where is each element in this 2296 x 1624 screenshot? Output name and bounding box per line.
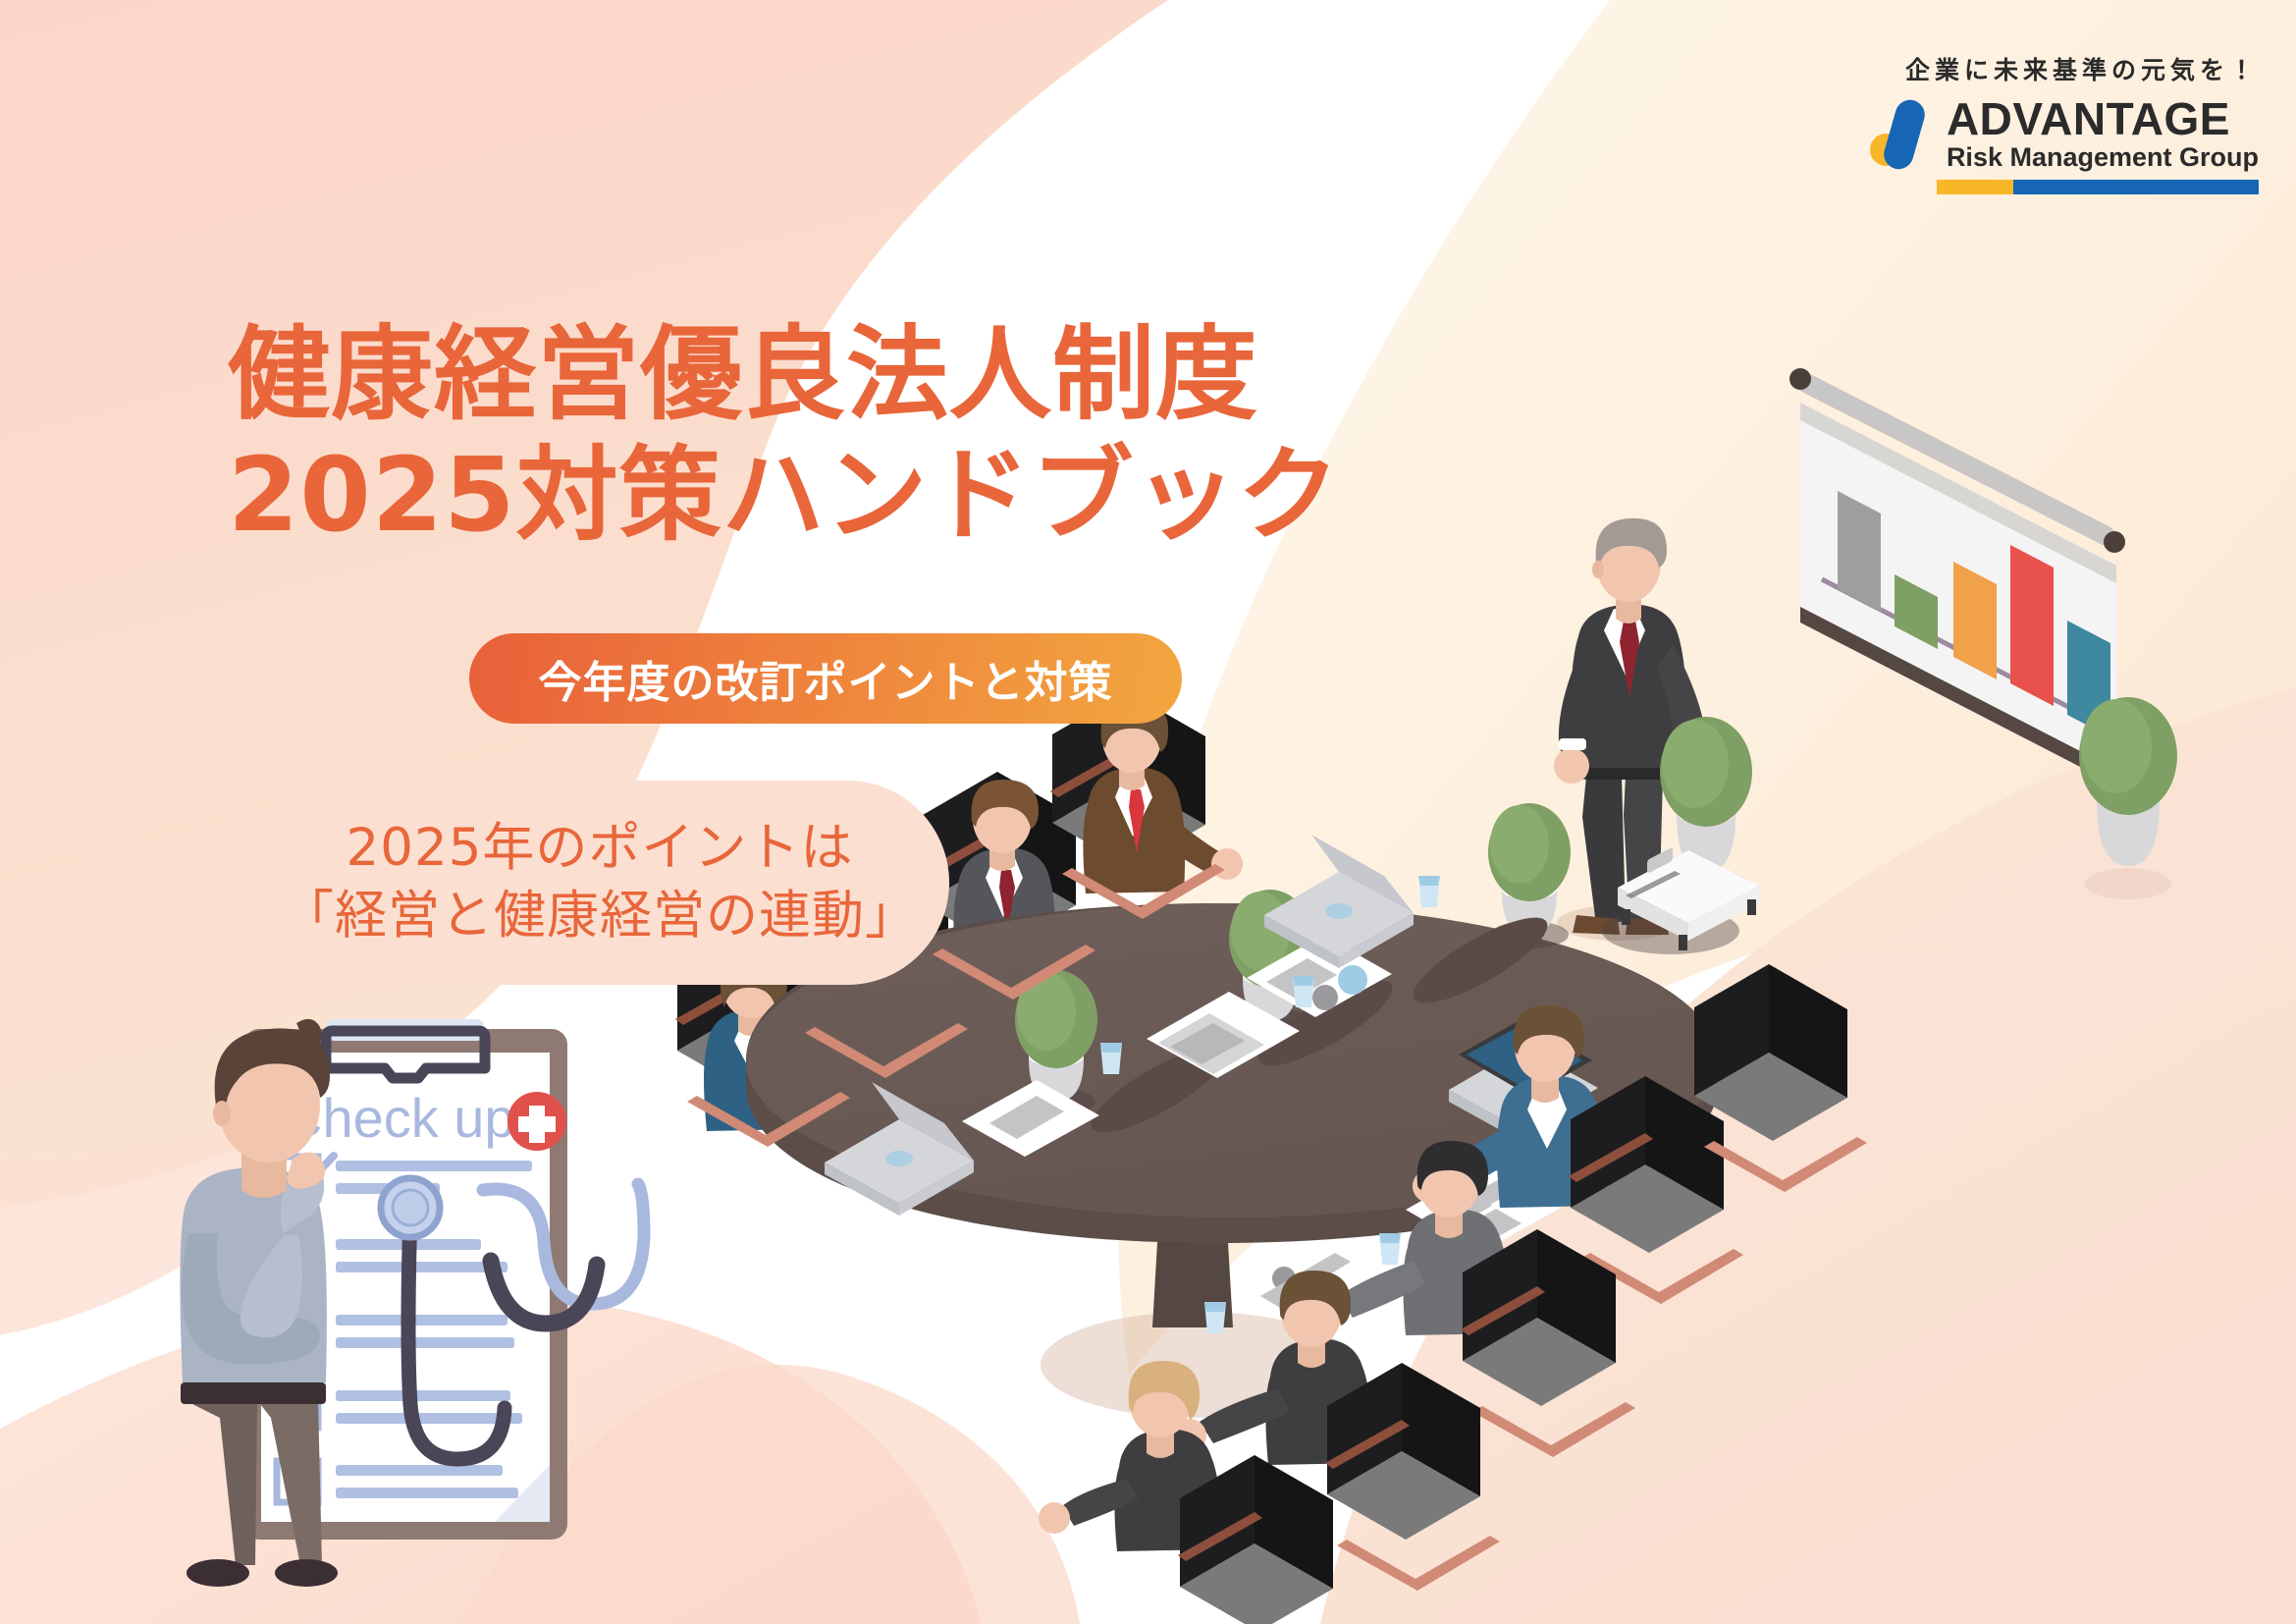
medical-cross-icon [507, 1092, 566, 1151]
water-glass [1204, 1302, 1226, 1333]
speech-bubble-line-2: 「経営と健康経営の連動」 [282, 883, 918, 950]
logo-underline-bar [1937, 180, 2259, 194]
person-man-brown [1083, 699, 1243, 893]
page-title-line-2: 2025対策ハンドブック [228, 435, 1340, 556]
water-glass [1293, 976, 1314, 1007]
water-glass [1418, 876, 1440, 907]
company-logo: 企業に未来基準の元気を！ ADVANTAGE Risk Management G… [1868, 51, 2259, 194]
table-projector [1602, 847, 1759, 954]
chair-back-dark [1325, 1363, 1500, 1591]
logo-wordmark: ADVANTAGE Risk Management Group [1947, 96, 2259, 171]
advantage-glyph-icon [1868, 98, 1937, 169]
chair-back-gray [1461, 1229, 1635, 1457]
water-glass [1100, 1043, 1122, 1074]
logo-name: ADVANTAGE [1947, 96, 2259, 141]
subtitle-badge-label: 今年度の改訂ポイントと対策 [539, 647, 1113, 710]
logo-bar-yellow [1937, 180, 2013, 194]
subtitle-badge: 今年度の改訂ポイントと対策 [469, 633, 1182, 724]
water-glass [1379, 1233, 1401, 1265]
checkup-illustration: Check up [167, 1011, 697, 1620]
speech-bubble-line-1: 2025年のポイントは [347, 815, 854, 883]
logo-subtitle: Risk Management Group [1947, 144, 2259, 171]
cover-page: 企業に未来基準の元気を！ ADVANTAGE Risk Management G… [0, 0, 2296, 1624]
logo-mark: ADVANTAGE Risk Management Group [1868, 96, 2259, 171]
page-title-line-1: 健康経営優良法人制度 [228, 314, 1258, 434]
speech-bubble: 2025年のポイントは 「経営と健康経営の連動」 [250, 781, 949, 985]
logo-bar-blue [2013, 180, 2259, 194]
projection-screen [1789, 368, 2125, 785]
page-title: 健康経営優良法人制度 2025対策ハンドブック [228, 314, 1340, 555]
meeting-room-illustration [864, 373, 2296, 1620]
logo-tagline: 企業に未来基準の元気を！ [1905, 51, 2259, 86]
plant-right [2079, 697, 2177, 899]
